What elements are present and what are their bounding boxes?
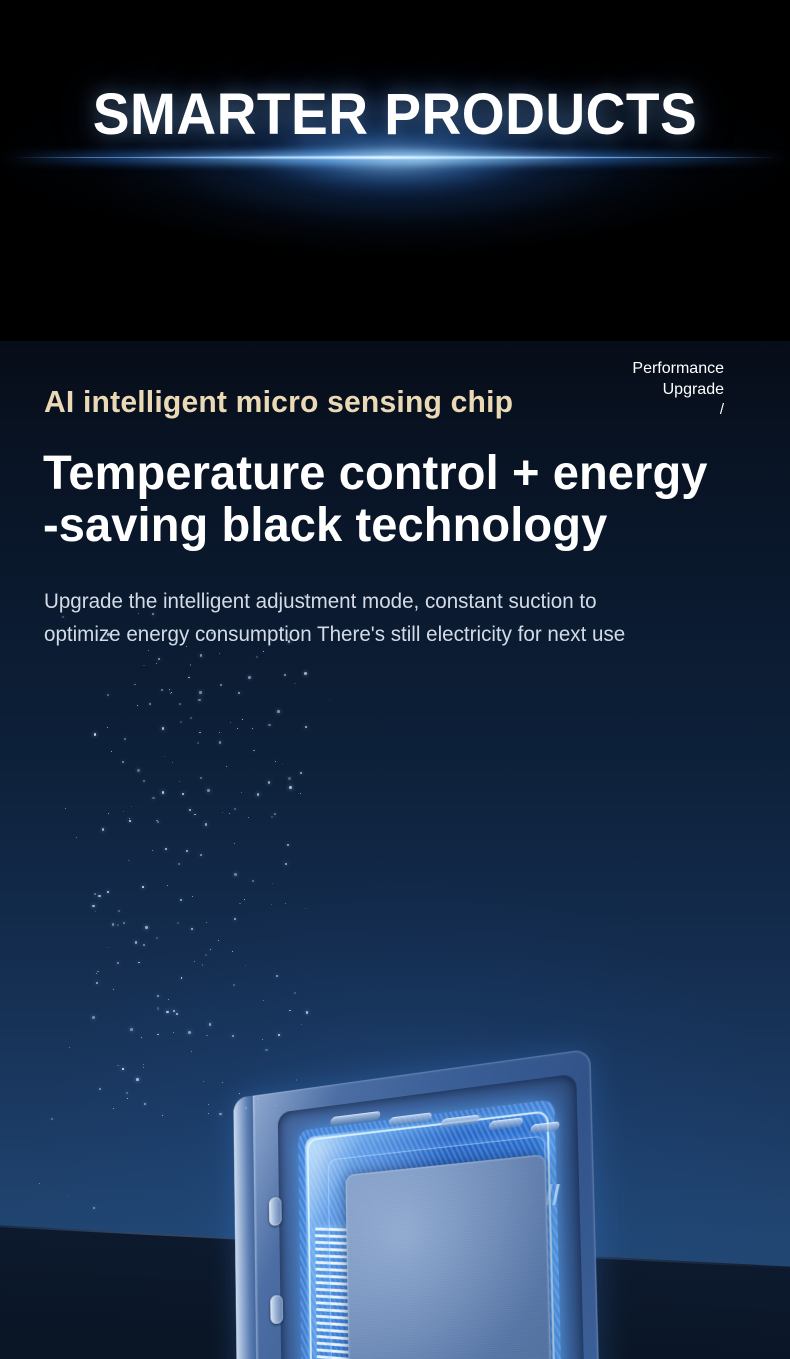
description-text: Upgrade the intelligent adjustment mode,… [44, 585, 720, 651]
performance-upgrade-badge: Performance Upgrade / [524, 358, 724, 420]
page-title: SMARTER PRODUCTS [20, 86, 771, 144]
badge-line-2: Upgrade [663, 381, 724, 398]
product-kicker: AI intelligent micro sensing chip [44, 384, 513, 420]
light-hairline [14, 157, 776, 158]
badge-line-1: Performance [632, 360, 724, 377]
headline-line-1: Temperature control + energy [43, 447, 708, 500]
badge-slash: / [524, 400, 724, 420]
headline-line-2: -saving black technology [43, 500, 729, 552]
product-image [150, 1041, 670, 1359]
chip-module [233, 1047, 617, 1359]
headline: Temperature control + energy -saving bla… [43, 448, 729, 552]
description-line-2: optimize energy consumption There's stil… [44, 618, 720, 651]
light-core [115, 156, 675, 159]
description-line-1: Upgrade the intelligent adjustment mode,… [44, 590, 597, 613]
hero-header: SMARTER PRODUCTS SMARTER PRODUCTS [0, 0, 790, 341]
product-marketing-page: SMARTER PRODUCTS SMARTER PRODUCTS [0, 0, 790, 1359]
chip-side-tab [270, 1295, 283, 1324]
chip-side-tab [269, 1197, 282, 1226]
title-reflection-wrapper: SMARTER PRODUCTS [0, 163, 790, 253]
